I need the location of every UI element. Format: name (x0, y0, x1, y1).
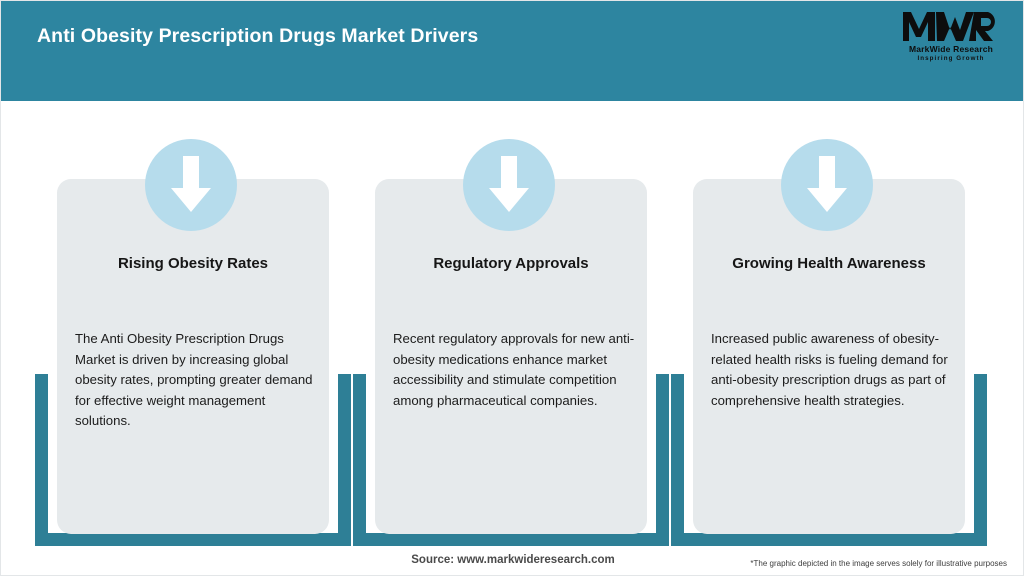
infographic-page: Anti Obesity Prescription Drugs Market D… (0, 0, 1024, 576)
card-title: Regulatory Approvals (387, 254, 635, 274)
card-title: Rising Obesity Rates (69, 254, 317, 274)
card-title: Growing Health Awareness (705, 254, 953, 274)
disclaimer-note: *The graphic depicted in the image serve… (750, 559, 1007, 568)
drivers-card-group: Rising Obesity Rates The Anti Obesity Pr… (1, 101, 1024, 541)
driver-card-2: Regulatory Approvals Recent regulatory a… (349, 101, 669, 541)
down-arrow-icon (145, 139, 237, 231)
down-arrow-glyph (487, 156, 531, 214)
logo-name: MarkWide Research (895, 44, 1007, 54)
card-body-text: The Anti Obesity Prescription Drugs Mark… (75, 329, 323, 432)
brand-logo: MarkWide Research Inspiring Growth (895, 9, 1007, 71)
down-arrow-glyph (805, 156, 849, 214)
page-header: Anti Obesity Prescription Drugs Market D… (1, 1, 1024, 101)
down-arrow-glyph (169, 156, 213, 214)
card-body-text: Recent regulatory approvals for new anti… (393, 329, 641, 411)
logo-tagline: Inspiring Growth (895, 55, 1007, 62)
down-arrow-icon (781, 139, 873, 231)
driver-card-1: Rising Obesity Rates The Anti Obesity Pr… (31, 101, 351, 541)
driver-card-3: Growing Health Awareness Increased publi… (667, 101, 987, 541)
mwr-logo-icon (903, 9, 999, 43)
page-title: Anti Obesity Prescription Drugs Market D… (37, 25, 478, 48)
card-surface: Regulatory Approvals Recent regulatory a… (375, 179, 647, 534)
down-arrow-icon (463, 139, 555, 231)
card-surface: Growing Health Awareness Increased publi… (693, 179, 965, 534)
card-surface: Rising Obesity Rates The Anti Obesity Pr… (57, 179, 329, 534)
card-body-text: Increased public awareness of obesity-re… (711, 329, 959, 411)
